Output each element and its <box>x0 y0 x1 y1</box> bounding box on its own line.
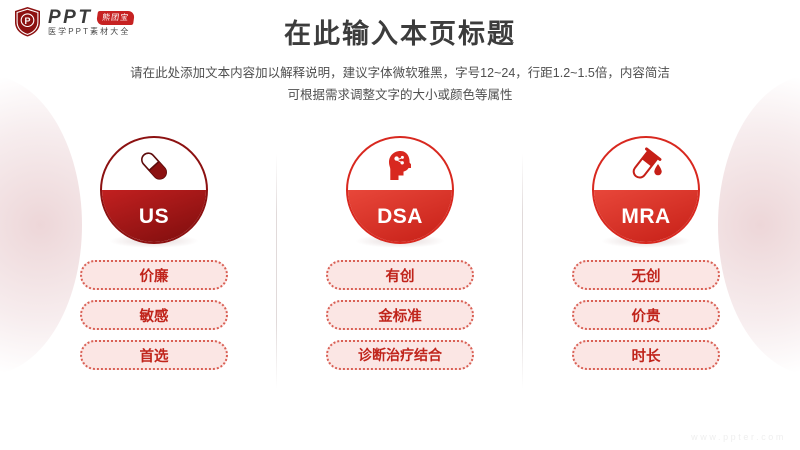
badge-circle-us[interactable]: US <box>100 136 208 244</box>
badge-label-dsa: DSA <box>346 190 454 244</box>
tag-item[interactable]: 有创 <box>326 260 474 290</box>
tag-item[interactable]: 诊断治疗结合 <box>326 340 474 370</box>
slide-canvas: P PPT 熊团宝 医学PPT素材大全 在此输入本页标题 请在此处添加文本内容加… <box>0 0 800 450</box>
column-dsa: DSA 有创 金标准 诊断治疗结合 <box>293 136 507 380</box>
tag-item[interactable]: 时长 <box>572 340 720 370</box>
badge-circle-mra[interactable]: MRA <box>592 136 700 244</box>
head-brain-icon <box>346 144 454 188</box>
badge-label-mra: MRA <box>592 190 700 244</box>
badge-circle-dsa[interactable]: DSA <box>346 136 454 244</box>
test-tube-blood-drop-icon <box>592 144 700 188</box>
subtitle-line-2: 可根据需求调整文字的大小或颜色等属性 <box>0 85 800 107</box>
page-subtitle: 请在此处添加文本内容加以解释说明，建议字体微软雅黑，字号12~24，行距1.2~… <box>0 63 800 107</box>
footer-watermark: www.ppter.com <box>691 432 786 442</box>
tag-item[interactable]: 敏感 <box>80 300 228 330</box>
page-title: 在此输入本页标题 <box>0 18 800 52</box>
tag-item[interactable]: 金标准 <box>326 300 474 330</box>
capsule-pill-icon <box>100 144 208 188</box>
column-us: US 价廉 敏感 首选 <box>47 136 261 380</box>
tag-item[interactable]: 无创 <box>572 260 720 290</box>
column-mra: MRA 无创 价贵 时长 <box>539 136 753 380</box>
tag-item[interactable]: 首选 <box>80 340 228 370</box>
badge-label-us: US <box>100 190 208 244</box>
tag-item[interactable]: 价贵 <box>572 300 720 330</box>
subtitle-line-1: 请在此处添加文本内容加以解释说明，建议字体微软雅黑，字号12~24，行距1.2~… <box>0 63 800 85</box>
comparison-columns: US 价廉 敏感 首选 <box>0 136 800 380</box>
tag-item[interactable]: 价廉 <box>80 260 228 290</box>
